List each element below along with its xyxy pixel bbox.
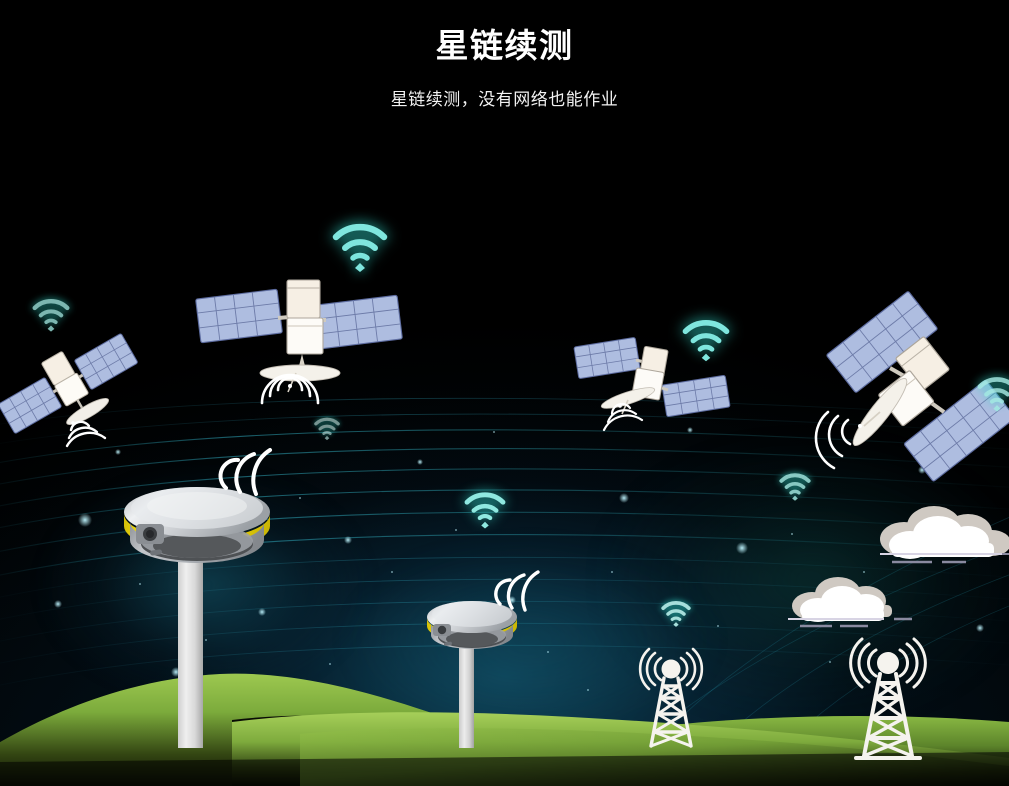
solar-panel-left	[0, 377, 62, 433]
wifi-icon	[778, 470, 812, 502]
solar-panel-right	[316, 295, 403, 349]
solar-panel-left	[196, 289, 283, 343]
wifi-icon	[660, 598, 692, 628]
satellite-body	[287, 280, 323, 354]
cell-tower-left	[634, 646, 708, 756]
tower-lattice	[651, 678, 691, 746]
receiver-wave-large	[210, 434, 282, 506]
wifi-icon	[313, 415, 341, 441]
solar-panel-left	[574, 337, 640, 378]
cloud-lower	[782, 574, 922, 628]
page-subtitle: 星链续测，没有网络也能作业	[0, 66, 1009, 112]
tower-beacon	[877, 652, 899, 674]
page-title: 星链续测	[0, 0, 1009, 66]
header-block: 星链续测 星链续测，没有网络也能作业	[0, 0, 1009, 112]
receiver-pole-large	[178, 548, 203, 748]
cloud-upper	[862, 505, 1009, 565]
illustration-stage: 星链续测 星链续测，没有网络也能作业	[0, 0, 1009, 786]
wifi-icon	[462, 488, 508, 530]
wifi-icon	[680, 315, 732, 363]
cell-tower-right	[842, 636, 934, 768]
solar-panel-right	[74, 333, 138, 389]
tower-beacon	[662, 660, 681, 679]
wifi-icon	[330, 218, 390, 274]
signal-waves	[67, 421, 105, 446]
satellite-upper	[192, 262, 407, 407]
receiver-connector	[438, 626, 446, 634]
satellite-left	[0, 322, 145, 452]
wifi-icon	[30, 295, 72, 333]
receiver-wave-small	[486, 558, 548, 620]
wifi-icon	[975, 373, 1009, 413]
solar-panel-right	[662, 375, 730, 417]
